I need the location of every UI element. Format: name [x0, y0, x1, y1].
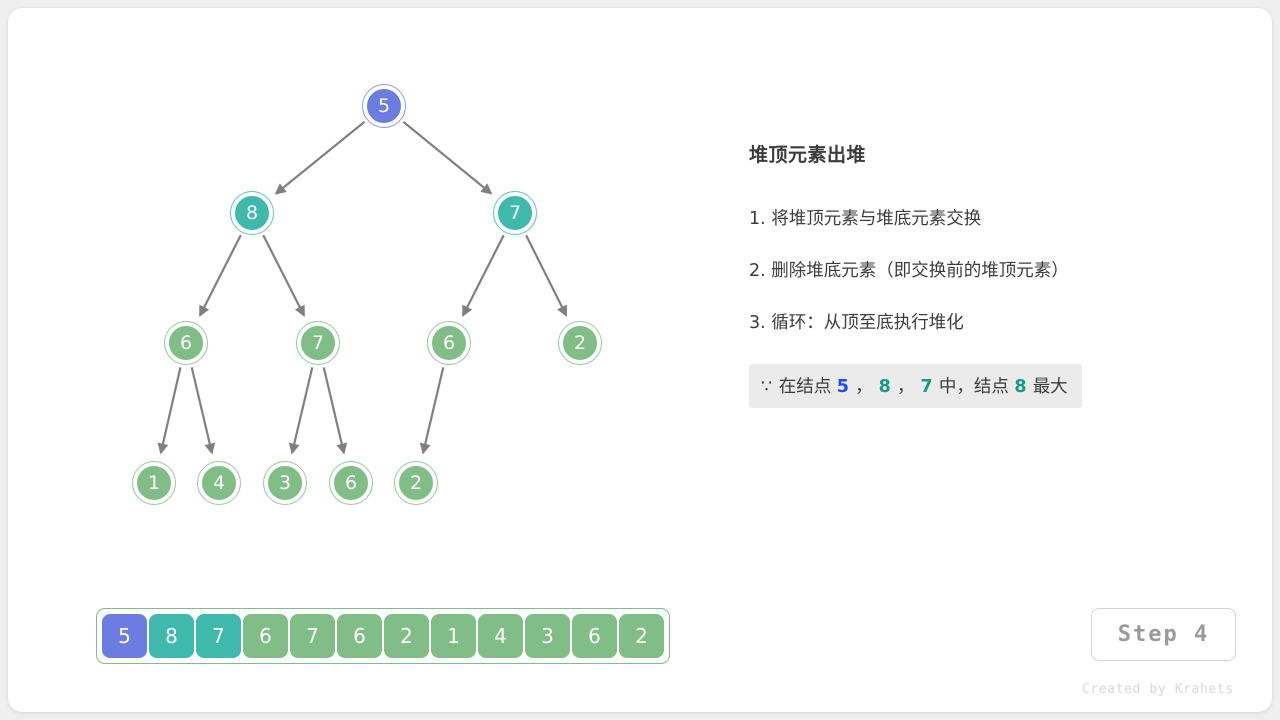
heap-array: 587676214362 [96, 608, 670, 664]
array-cell: 7 [290, 614, 335, 658]
step-badge: Step 4 [1091, 608, 1236, 661]
credit-text: Created by Krahets [1082, 682, 1234, 697]
note-target-value: 8 [1014, 377, 1032, 397]
heap-tree-diagram: 587676214362 [8, 8, 708, 588]
note-value: 7 [914, 377, 938, 397]
array-cell: 6 [337, 614, 382, 658]
tree-edge [292, 367, 312, 452]
tree-edge [463, 235, 504, 315]
tree-edge [423, 367, 443, 452]
tree-edges-layer [8, 8, 708, 588]
note-target-value-text: 8 [1014, 377, 1032, 397]
step-item: 1. 将堆顶元素与堆底元素交换 [749, 205, 1219, 230]
tree-node-value: 5 [378, 97, 390, 116]
step-item: 2. 删除堆底元素（即交换前的堆顶元素） [749, 257, 1219, 282]
tree-node: 2 [561, 324, 599, 362]
tree-node-value: 8 [246, 204, 258, 223]
page-title: 堆顶元素出堆 [749, 140, 1219, 167]
note-prefix: 在结点 [779, 377, 832, 397]
tree-edge [161, 367, 181, 452]
tree-node-value: 2 [574, 334, 586, 353]
note-separator: ， [897, 377, 915, 397]
tree-node-value: 6 [180, 334, 192, 353]
array-cell: 4 [478, 614, 523, 658]
note-value-list: 5 ， 8 ， 7 [837, 377, 939, 397]
explanation-panel: 堆顶元素出堆 1. 将堆顶元素与堆底元素交换2. 删除堆底元素（即交换前的堆顶元… [749, 140, 1219, 408]
tree-node-value: 2 [410, 474, 422, 493]
tree-node: 6 [332, 464, 370, 502]
tree-node-value: 4 [213, 474, 225, 493]
note-value: 5 [837, 377, 855, 397]
array-cell: 7 [196, 614, 241, 658]
tree-node: 6 [430, 324, 468, 362]
note-callout: ∵ 在结点 5 ， 8 ， 7 中，结点 8 最大 [749, 364, 1082, 408]
tree-node: 5 [365, 87, 403, 125]
tree-edge [403, 122, 491, 194]
tree-edge [263, 235, 304, 315]
array-cell: 6 [243, 614, 288, 658]
step-item: 3. 循环：从顶至底执行堆化 [749, 309, 1219, 334]
because-symbol: ∵ [761, 377, 773, 397]
note-middle: 中，结点 [939, 377, 1009, 397]
note-separator: ， [855, 377, 873, 397]
tree-node: 2 [397, 464, 435, 502]
tree-node-value: 3 [279, 474, 291, 493]
note-suffix: 最大 [1033, 377, 1068, 397]
tree-edge [324, 367, 344, 452]
tree-edge [192, 367, 212, 452]
slide-card: 587676214362 587676214362 堆顶元素出堆 1. 将堆顶元… [8, 8, 1272, 712]
array-cell: 6 [572, 614, 617, 658]
tree-node-value: 7 [312, 334, 324, 353]
array-cell: 8 [149, 614, 194, 658]
tree-node: 3 [266, 464, 304, 502]
note-value: 8 [873, 377, 897, 397]
array-cell: 2 [619, 614, 664, 658]
tree-node: 7 [496, 194, 534, 232]
tree-edge [276, 122, 364, 194]
tree-edge [526, 235, 566, 315]
tree-node: 8 [233, 194, 271, 232]
tree-node-value: 7 [509, 204, 521, 223]
tree-node-value: 6 [345, 474, 357, 493]
tree-node: 1 [135, 464, 173, 502]
tree-node: 6 [167, 324, 205, 362]
array-cell: 1 [431, 614, 476, 658]
tree-node: 7 [299, 324, 337, 362]
array-cell: 2 [384, 614, 429, 658]
tree-edge [200, 235, 241, 315]
array-cell: 5 [102, 614, 147, 658]
array-cell: 3 [525, 614, 570, 658]
tree-node: 4 [200, 464, 238, 502]
steps-list: 1. 将堆顶元素与堆底元素交换2. 删除堆底元素（即交换前的堆顶元素）3. 循环… [749, 205, 1219, 334]
tree-node-value: 1 [148, 474, 160, 493]
tree-node-value: 6 [443, 334, 455, 353]
